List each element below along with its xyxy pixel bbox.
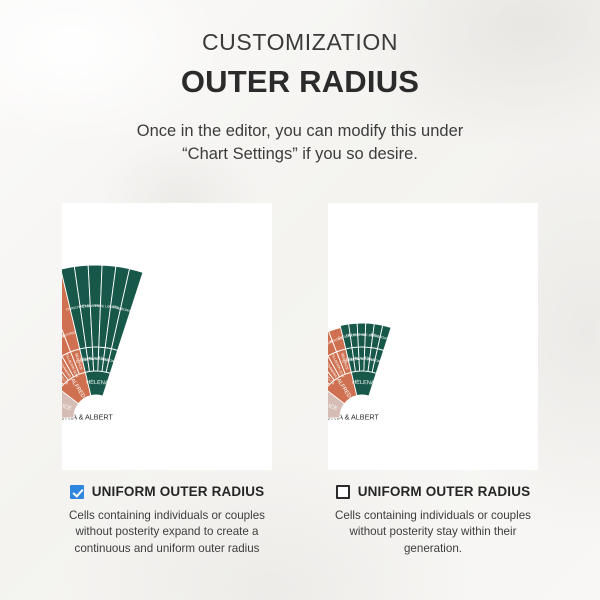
panel-uniform-on: VICTORIA & ALBERTALICEIRENEERNEST LOUISA… — [62, 203, 272, 557]
fan-chart-uniform-svg: VICTORIA & ALBERTALICEIRENEERNEST LOUISA… — [62, 203, 272, 470]
uniform-outer-radius-label-right: UNIFORM OUTER RADIUS — [358, 484, 531, 499]
uniform-outer-radius-checkbox-checked[interactable] — [70, 485, 84, 499]
subtitle-line-1: Once in the editor, you can modify this … — [137, 122, 464, 140]
option-row-uniform-off[interactable]: UNIFORM OUTER RADIUS — [328, 484, 538, 499]
page-root: CUSTOMIZATION OUTER RADIUS Once in the e… — [0, 0, 600, 600]
fan-chart-uniform[interactable]: VICTORIA & ALBERTALICEIRENEERNEST LOUISA… — [62, 203, 272, 470]
uniform-outer-radius-description-right: Cells containing individuals or couples … — [328, 508, 538, 557]
uniform-outer-radius-label-left: UNIFORM OUTER RADIUS — [92, 484, 265, 499]
page-title: OUTER RADIUS — [0, 54, 600, 97]
page-kicker: CUSTOMIZATION — [0, 0, 600, 54]
uniform-outer-radius-checkbox-unchecked[interactable] — [336, 485, 350, 499]
uniform-outer-radius-description-left: Cells containing individuals or couples … — [62, 508, 272, 557]
svg-text:HELENA: HELENA — [86, 380, 109, 387]
fan-chart-nonuniform-svg: VICTORIA & ALBERTALICEIRENEERNEST LOUISA… — [328, 203, 538, 470]
panel-uniform-off: VICTORIA & ALBERTALICEIRENEERNEST LOUISA… — [328, 203, 538, 557]
page-subtitle: Once in the editor, you can modify this … — [0, 97, 600, 167]
subtitle-line-2: “Chart Settings” if you so desire. — [182, 145, 418, 163]
fan-chart-nonuniform[interactable]: VICTORIA & ALBERTALICEIRENEERNEST LOUISA… — [328, 203, 538, 470]
option-row-uniform-on[interactable]: UNIFORM OUTER RADIUS — [62, 484, 272, 499]
svg-text:HELENA: HELENA — [352, 380, 375, 387]
